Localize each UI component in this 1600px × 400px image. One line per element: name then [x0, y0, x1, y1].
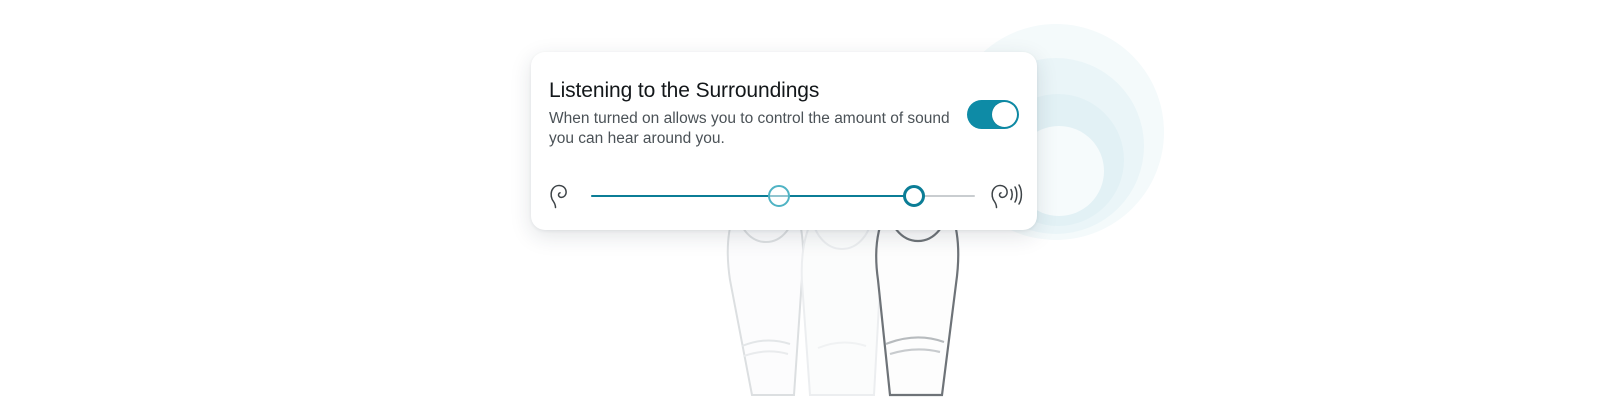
card-title: Listening to the Surroundings [549, 78, 959, 104]
listening-to-surroundings-card: Listening to the Surroundings When turne… [531, 52, 1037, 230]
ear-with-sound-waves-icon [989, 181, 1023, 211]
card-description: When turned on allows you to control the… [549, 109, 955, 149]
card-text-block: Listening to the Surroundings When turne… [549, 78, 959, 149]
slider-track[interactable] [591, 195, 975, 197]
slider-handle-previous [768, 185, 790, 207]
ear-icon [547, 181, 573, 211]
screenshot-stage: Listening to the Surroundings When turne… [0, 0, 1600, 400]
slider-track-fill [591, 195, 914, 197]
listening-to-the-surroundings-toggle[interactable] [967, 100, 1019, 129]
slider-handle[interactable] [903, 185, 925, 207]
ambient-sound-slider-row [547, 174, 1023, 218]
toggle-knob [992, 102, 1017, 127]
